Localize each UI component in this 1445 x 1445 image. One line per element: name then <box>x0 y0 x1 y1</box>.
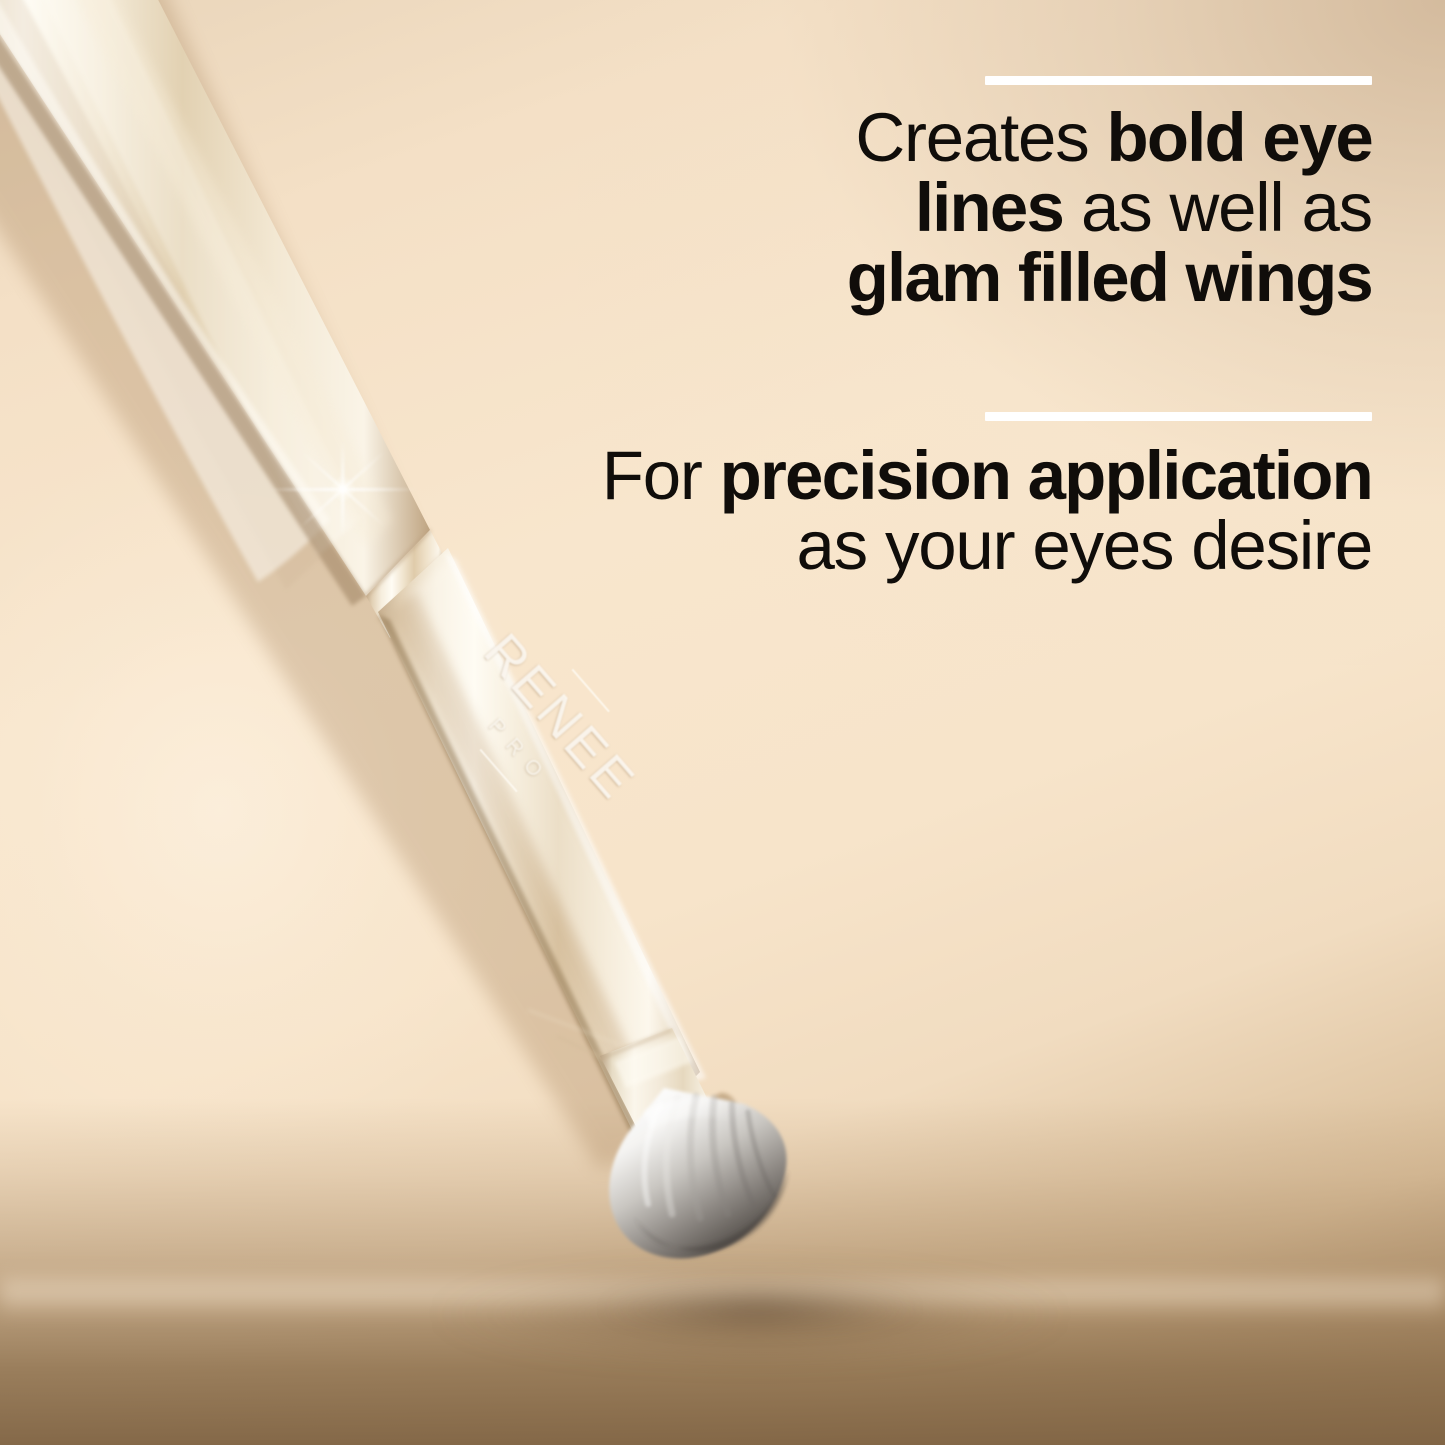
brush-tip-shadow-core <box>600 1286 920 1330</box>
headline-run: glam filled wings <box>847 239 1372 316</box>
headline-text-secondary: For precision applicationas your eyes de… <box>472 421 1372 581</box>
headline-block-primary: Creates bold eyelines as well asglam fil… <box>472 76 1372 313</box>
divider-rule-top <box>985 76 1372 85</box>
product-marketing-banner: RENEE PRO Creates bold eyelines as well … <box>0 0 1445 1445</box>
headline-run: Creates <box>855 99 1106 176</box>
headline-run: precision application <box>720 437 1372 514</box>
headline-run: as well as <box>1063 169 1372 246</box>
headline-block-secondary: For precision applicationas your eyes de… <box>472 412 1372 581</box>
headline-run: bold eye <box>1106 99 1372 176</box>
headline-text-primary: Creates bold eyelines as well asglam fil… <box>472 85 1372 313</box>
headline-run: as your eyes desire <box>797 507 1373 584</box>
divider-rule-bottom <box>985 412 1372 421</box>
headline-run: lines <box>915 169 1063 246</box>
headline-run: For <box>602 437 720 514</box>
